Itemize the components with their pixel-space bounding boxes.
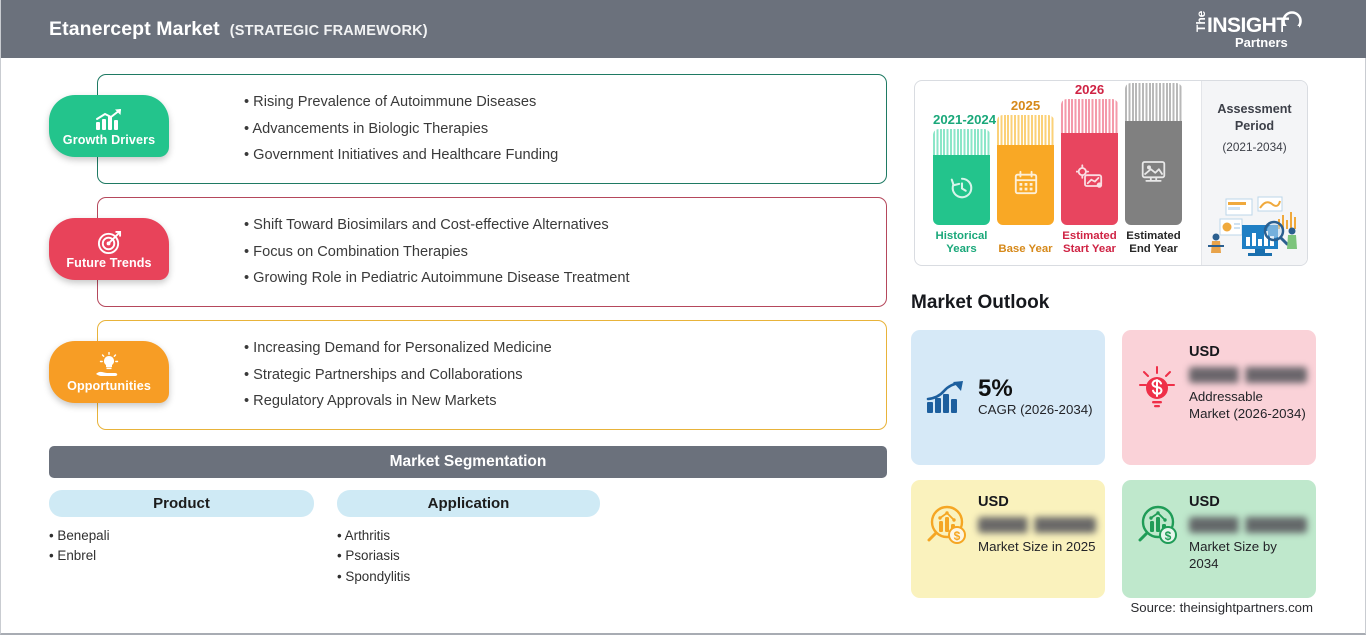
page-header: Etanercept Market (STRATEGIC FRAMEWORK) … xyxy=(1,0,1366,58)
logo-insight-text: INSIGHT xyxy=(1207,14,1289,37)
badge-label: Growth Drivers xyxy=(63,133,155,147)
panel-future-trends: Shift Toward Biosimilars and Cost-effect… xyxy=(97,197,887,307)
bullet-item: Government Initiatives and Healthcare Fu… xyxy=(244,147,558,164)
outlook-card-market-size-2025[interactable]: $ USD Market Size in 2025 xyxy=(911,480,1105,598)
svg-text:$: $ xyxy=(1165,529,1172,543)
redacted-value xyxy=(1189,517,1307,533)
list-item: Psoriasis xyxy=(337,546,410,566)
outlook-card-text: USD Market Size in 2025 xyxy=(978,494,1096,555)
assessment-period-range: (2021-2034) xyxy=(1202,140,1307,154)
lightbulb-dollar-icon xyxy=(1134,344,1180,408)
assessment-bar-stripes xyxy=(933,129,990,155)
assessment-bar-solid xyxy=(1061,133,1118,225)
assessment-bar-solid xyxy=(997,145,1054,225)
badge-label: Opportunities xyxy=(67,379,151,393)
assessment-bar-column xyxy=(1125,83,1182,225)
assessment-bar-year: 2021-2024 xyxy=(933,112,990,127)
assessment-bar-caption: Historical Years xyxy=(933,230,990,257)
redacted-value xyxy=(1189,367,1307,383)
market-outlook-title: Market Outlook xyxy=(911,292,1049,314)
currency-label: USD xyxy=(1189,494,1307,510)
bullet-item: Growing Role in Pediatric Autoimmune Dis… xyxy=(244,270,630,287)
segmentation-list-application: Arthritis Psoriasis Spondylitis xyxy=(337,526,410,587)
logo-the-text: The xyxy=(1194,10,1208,32)
page-title: Etanercept Market xyxy=(49,18,220,41)
badge-growth-drivers[interactable]: Growth Drivers xyxy=(49,95,169,157)
currency-label: USD xyxy=(978,494,1096,510)
currency-label: USD xyxy=(1189,344,1307,360)
opportunities-bullet-list: Increasing Demand for Personalized Medic… xyxy=(244,321,552,429)
magnifier-bar-chart-dollar-icon: $ xyxy=(923,494,969,546)
assessment-bar-stripes xyxy=(997,115,1054,145)
bullet-item: Focus on Combination Therapies xyxy=(244,244,630,261)
image-monitor-icon xyxy=(1140,158,1167,189)
target-dartboard-icon xyxy=(97,229,122,255)
gear-chart-icon xyxy=(1076,164,1103,195)
redacted-value xyxy=(978,517,1096,533)
badge-opportunities[interactable]: Opportunities xyxy=(49,341,169,403)
assessment-period-sidebar: Assessment Period (2021-2034) xyxy=(1201,81,1307,265)
assessment-bar-column xyxy=(997,115,1054,225)
future-trends-bullet-list: Shift Toward Biosimilars and Cost-effect… xyxy=(244,198,630,306)
assessment-bar-column xyxy=(933,129,990,225)
data-analytics-illustration xyxy=(1204,189,1306,261)
assessment-period-panel: 2021-2024Historical Years2025Base Year20… xyxy=(914,80,1308,266)
logo-icon: The INSIGHT Partners xyxy=(1191,8,1309,50)
bullet-item: Rising Prevalence of Autoimmune Diseases xyxy=(244,94,558,111)
outlook-card-market-size-2034[interactable]: $ USD Market Size by 2034 xyxy=(1122,480,1316,598)
insight-partners-logo: The INSIGHT Partners xyxy=(1191,8,1309,50)
cagr-label: CAGR (2026-2034) xyxy=(978,401,1093,418)
outlook-card-text: USD Addressable Market (2026-2034) xyxy=(1189,344,1307,423)
segmentation-column-header-application: Application xyxy=(337,490,600,517)
market-segmentation-header: Market Segmentation xyxy=(49,446,887,478)
outlook-card-cagr[interactable]: 5% CAGR (2026-2034) xyxy=(911,330,1105,465)
addressable-market-label: Addressable Market (2026-2034) xyxy=(1189,388,1307,423)
list-item: Arthritis xyxy=(337,526,410,546)
assessment-bar-caption: Base Year xyxy=(997,243,1054,257)
badge-label: Future Trends xyxy=(66,256,151,270)
assessment-bar-year: 2025 xyxy=(997,98,1054,113)
assessment-bar-stripes xyxy=(1125,83,1182,121)
list-item: Spondylitis xyxy=(337,567,410,587)
bullet-item: Shift Toward Biosimilars and Cost-effect… xyxy=(244,217,630,234)
assessment-bar-stripes xyxy=(1061,99,1118,133)
assessment-bar-column xyxy=(1061,99,1118,225)
magnifier-bar-chart-dollar-icon: $ xyxy=(1134,494,1180,546)
assessment-period-title: Assessment Period xyxy=(1202,101,1307,134)
outlook-card-text: USD Market Size by 2034 xyxy=(1189,494,1307,573)
page-subtitle: (STRATEGIC FRAMEWORK) xyxy=(230,23,428,39)
market-size-2025-label: Market Size in 2025 xyxy=(978,538,1096,555)
assessment-bar-year: 2026 xyxy=(1061,82,1118,97)
list-item: Enbrel xyxy=(49,546,110,566)
header-title-wrap: Etanercept Market (STRATEGIC FRAMEWORK) xyxy=(49,18,428,41)
segmentation-column-header-product: Product xyxy=(49,490,314,517)
badge-future-trends[interactable]: Future Trends xyxy=(49,218,169,280)
clock-history-icon xyxy=(949,175,975,206)
outlook-card-addressable-market[interactable]: USD Addressable Market (2026-2034) xyxy=(1122,330,1316,465)
assessment-bar-solid xyxy=(933,155,990,225)
infographic-page: Etanercept Market (STRATEGIC FRAMEWORK) … xyxy=(0,0,1366,635)
hand-holding-lightbulb-icon xyxy=(94,352,124,378)
assessment-bar-caption: Estimated End Year xyxy=(1125,230,1182,257)
assessment-bar-year: 2034 xyxy=(1125,80,1182,81)
svg-text:$: $ xyxy=(954,529,961,543)
growth-drivers-bullet-list: Rising Prevalence of Autoimmune Diseases… xyxy=(244,75,558,183)
assessment-bar-solid xyxy=(1125,121,1182,225)
assessment-bars-group: 2021-2024Historical Years2025Base Year20… xyxy=(915,81,1203,265)
bullet-item: Strategic Partnerships and Collaboration… xyxy=(244,367,552,384)
bullet-item: Regulatory Approvals in New Markets xyxy=(244,393,552,410)
outlook-card-text: 5% CAGR (2026-2034) xyxy=(978,376,1093,418)
assessment-bar-caption: Estimated Start Year xyxy=(1061,230,1118,257)
market-size-2034-label: Market Size by 2034 xyxy=(1189,538,1307,573)
calendar-icon xyxy=(1013,170,1039,201)
panel-opportunities: Increasing Demand for Personalized Medic… xyxy=(97,320,887,430)
segmentation-list-product: Benepali Enbrel xyxy=(49,526,110,567)
logo-partners-text: Partners xyxy=(1235,35,1288,50)
list-item: Benepali xyxy=(49,526,110,546)
growth-chart-arrow-icon xyxy=(923,381,969,415)
bullet-item: Increasing Demand for Personalized Medic… xyxy=(244,340,552,357)
bullet-item: Advancements in Biologic Therapies xyxy=(244,121,558,138)
panel-growth-drivers: Rising Prevalence of Autoimmune Diseases… xyxy=(97,74,887,184)
growth-bar-chart-arrow-icon xyxy=(94,106,124,132)
cagr-value: 5% xyxy=(978,376,1093,401)
source-attribution: Source: theinsightpartners.com xyxy=(1130,600,1313,615)
